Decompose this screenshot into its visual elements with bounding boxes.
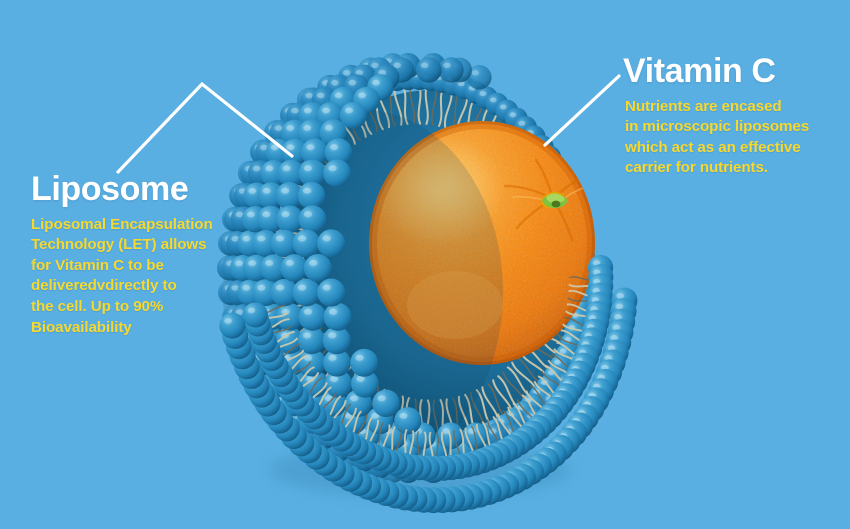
- vitamin-c-body-line: in microscopic liposomes: [625, 117, 809, 138]
- liposome-body-line: Technology (LET) allows: [31, 235, 213, 256]
- liposome-body: Liposomal Encapsulation Technology (LET)…: [31, 215, 213, 339]
- vitamin-c-body-line: Nutrients are encased: [625, 97, 809, 118]
- liposome-body-line: deliveredvdirectly to: [31, 276, 213, 297]
- vitamin-c-body: Nutrients are encased in microscopic lip…: [623, 97, 809, 179]
- liposome-body-line: Bioavailability: [31, 318, 213, 339]
- liposome-body-line: Liposomal Encapsulation: [31, 215, 213, 236]
- annotation-vitamin-c: Vitamin C Nutrients are encased in micro…: [623, 54, 809, 179]
- vitamin-c-body-line: carrier for nutrients.: [625, 158, 809, 179]
- vitamin-c-heading: Vitamin C: [623, 54, 809, 90]
- liposome-body-line: the cell. Up to 90%: [31, 297, 213, 318]
- vitamin-c-body-line: which act as an effective: [625, 138, 809, 159]
- annotation-liposome: Liposome Liposomal Encapsulation Technol…: [31, 172, 213, 338]
- infographic-canvas: Liposome Liposomal Encapsulation Technol…: [0, 0, 850, 529]
- liposome-heading: Liposome: [31, 172, 213, 208]
- liposome-body-line: for Vitamin C to be: [31, 256, 213, 277]
